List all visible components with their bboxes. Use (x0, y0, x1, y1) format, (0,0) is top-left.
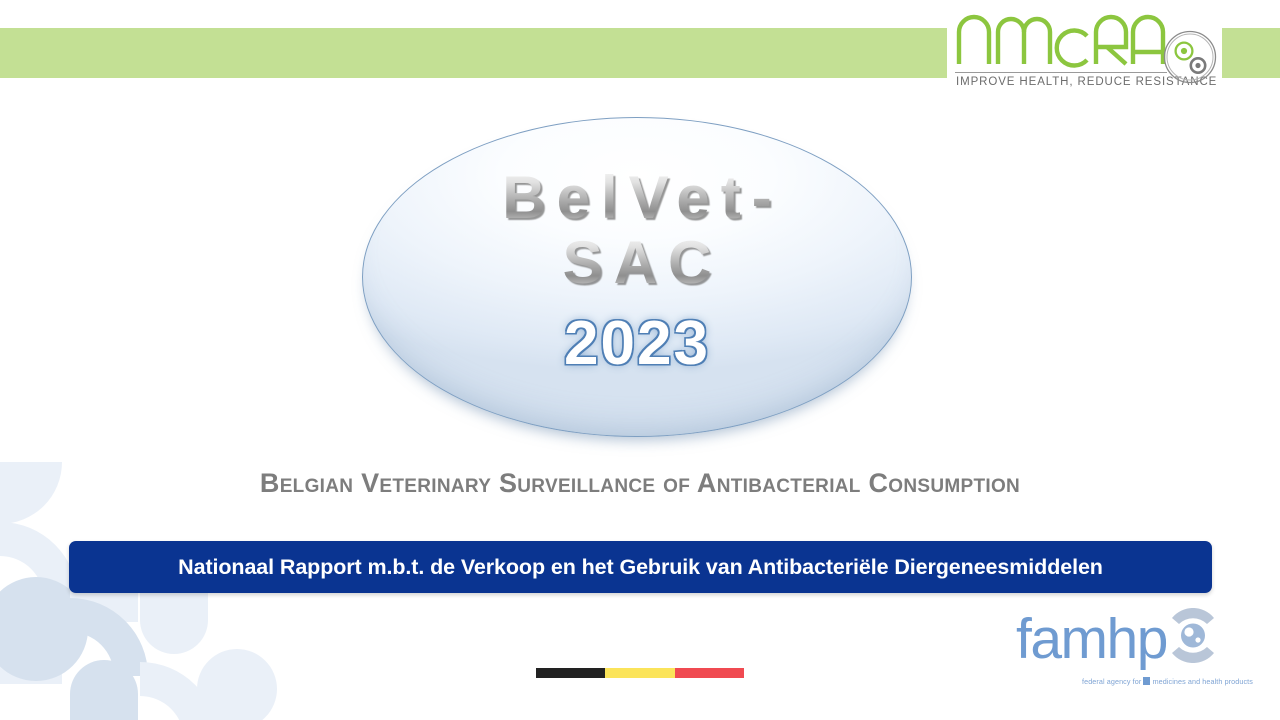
famhp-tagline: federal agency for medicines and health … (1082, 677, 1253, 686)
amcra-logo-panel: IMPROVE HEALTH, REDUCE RESISTANCE (947, 0, 1222, 105)
famhp-tagline-block (1143, 677, 1150, 685)
belvet-logo-line-1: BelVet- (491, 169, 782, 228)
belgian-flag-bar (536, 668, 744, 678)
flag-stripe-yellow (605, 668, 674, 678)
amcra-wordmark (955, 6, 1167, 68)
famhp-wordmark: famhp (1016, 611, 1167, 668)
flag-stripe-black (536, 668, 605, 678)
belvet-sac-oval-logo: BelVet- SAC 2023 (362, 117, 912, 437)
report-title-banner-text: Nationaal Rapport m.b.t. de Verkoop en h… (178, 555, 1103, 580)
report-subtitle: Belgian Veterinary Surveillance of Antib… (0, 468, 1280, 499)
belvet-logo-line-2: SAC (552, 234, 723, 293)
report-title-banner: Nationaal Rapport m.b.t. de Verkoop en h… (69, 541, 1212, 593)
flag-stripe-red (675, 668, 744, 678)
famhp-eye-mark (1164, 608, 1222, 663)
famhp-tagline-before: federal agency for (1082, 677, 1141, 686)
belvet-logo-year: 2023 (564, 308, 710, 379)
amcra-circle-mark (1163, 30, 1217, 84)
famhp-tagline-after: medicines and health products (1153, 677, 1253, 686)
amcra-divider-rule (955, 72, 1167, 73)
report-cover-slide: IMPROVE HEALTH, REDUCE RESISTANCE BelVet… (0, 0, 1280, 720)
oval-content: BelVet- SAC 2023 (363, 118, 911, 436)
famhp-logo: famhp federal agency for medicines and h… (1016, 608, 1256, 700)
amcra-logo: IMPROVE HEALTH, REDUCE RESISTANCE (947, 0, 1222, 105)
